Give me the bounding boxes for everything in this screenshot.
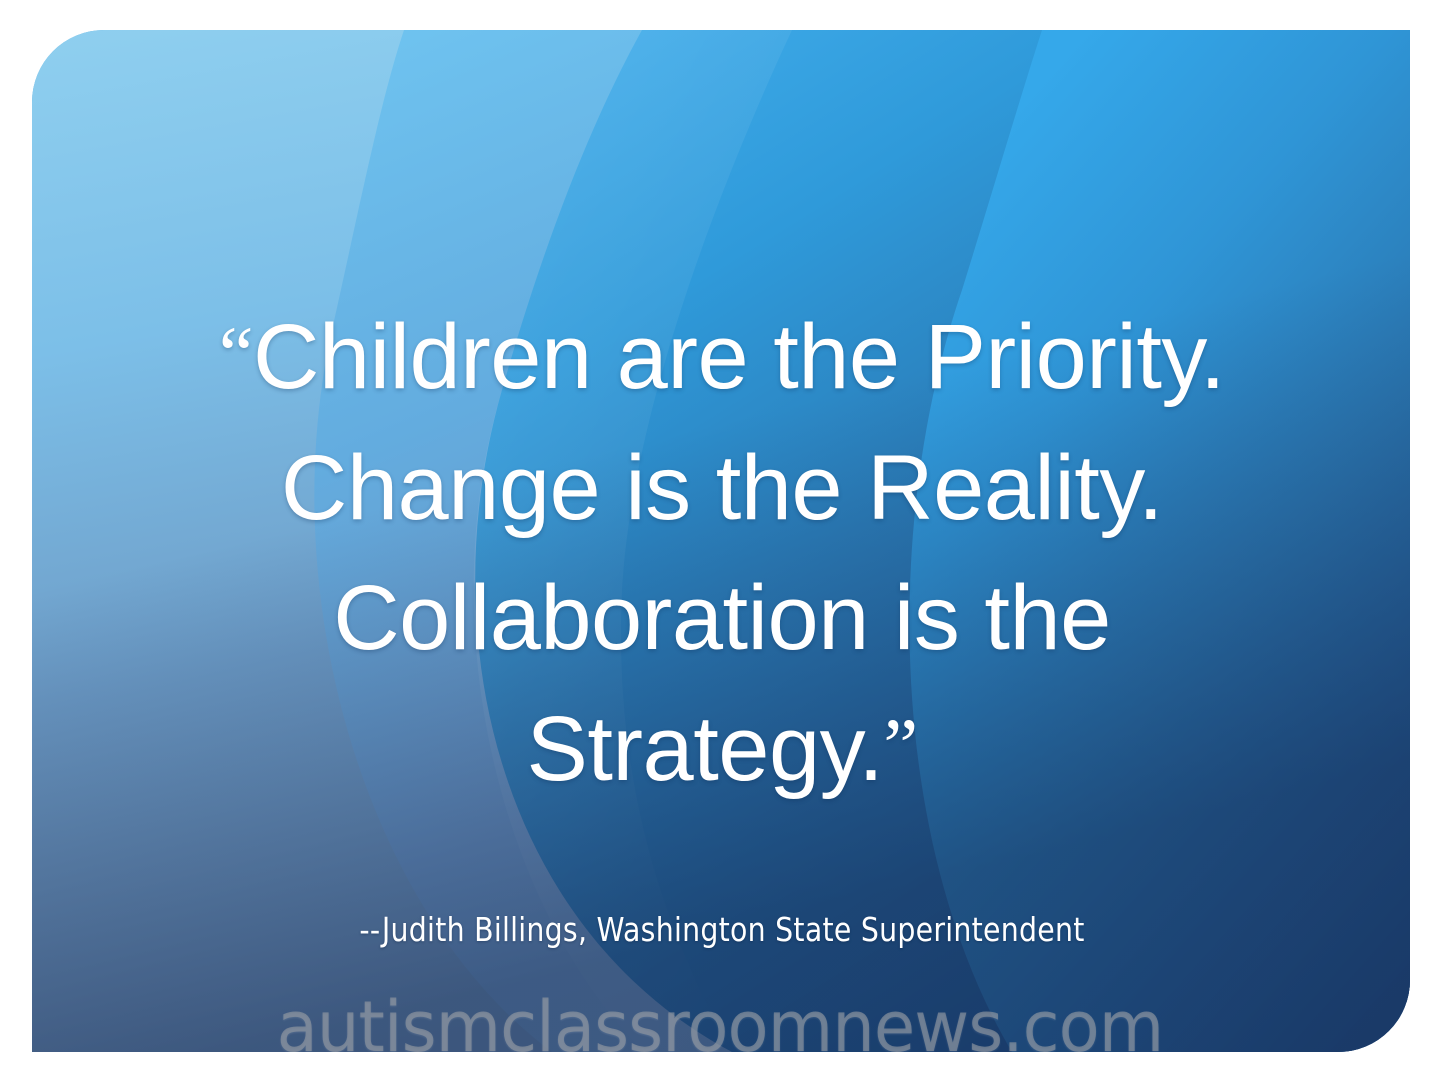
quote-attribution: --Judith Billings, Washington State Supe…: [180, 910, 1264, 949]
background-artwork: [32, 30, 1410, 1052]
presentation-slide: “Children are the Priority. Change is th…: [32, 30, 1410, 1052]
slide-canvas: “Children are the Priority. Change is th…: [0, 0, 1440, 1080]
